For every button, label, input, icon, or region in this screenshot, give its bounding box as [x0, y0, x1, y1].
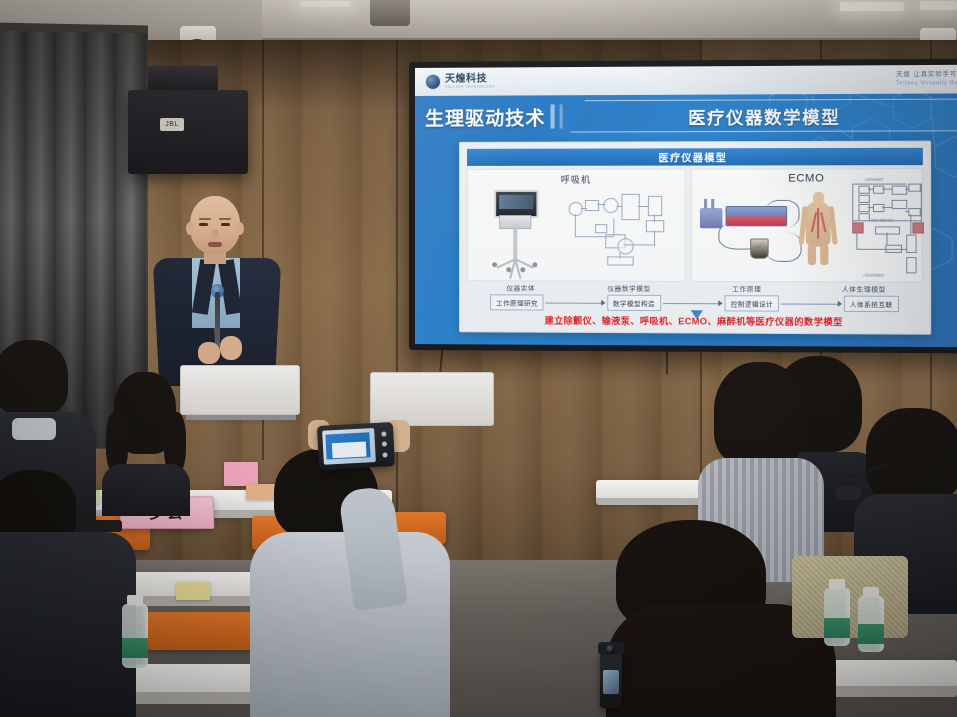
presenter-hand-left [198, 342, 220, 364]
desk-partition-2 [370, 372, 494, 426]
ecmo-tube-patient [766, 232, 802, 262]
brand-logo: 天煌科技 TELLYES TECHNOLOGY [425, 74, 495, 90]
slide-main-title-chip: 医疗仪器数学模型 [571, 99, 957, 133]
globe-icon [425, 74, 441, 90]
remote-control[interactable] [80, 520, 122, 532]
sticky-note-yellow [176, 582, 210, 600]
presenter-nose [212, 229, 218, 238]
phone-screen [322, 428, 376, 465]
tagline-cn: 天煌 让真实验手可及 [896, 72, 957, 80]
hair [714, 362, 806, 466]
bottle-cap [829, 579, 845, 589]
wall-speaker [128, 90, 248, 174]
hair [0, 340, 68, 416]
card-banner-label: 医疗仪器模型 [658, 149, 727, 164]
handheld-gimbal-camera[interactable] [600, 652, 622, 708]
flow-step-2: 数学模型构造 [607, 295, 661, 311]
phone-preview-card [332, 441, 367, 458]
patient-leg-right [820, 245, 828, 265]
sublabel-device-entity: 仪器实体 [467, 282, 575, 294]
ecmo-tube-right [766, 200, 800, 227]
camera-lens-icon [606, 645, 615, 654]
water-bottle-right-1 [824, 588, 850, 646]
display-screen[interactable]: 天煌科技 TELLYES TECHNOLOGY 天煌 让真实验手可及 Telly… [409, 59, 957, 354]
mouse-device[interactable] [836, 486, 862, 500]
flow-arrow-3 [781, 303, 841, 304]
bottle-cap [127, 595, 143, 605]
patient-figure [799, 192, 838, 265]
presenter-mouth [208, 242, 222, 247]
sublabel-working-principle: 工作原理 [689, 283, 806, 296]
desk-partition-1 [180, 365, 300, 415]
phone-camera-controls[interactable] [378, 428, 390, 460]
ventilator-base [490, 256, 540, 270]
ventilator-illustration [486, 188, 544, 272]
phone-shutter-icon[interactable] [382, 453, 387, 458]
physiology-circuit-schematic: 心血管系统模型 [844, 177, 925, 277]
ventilator-pole [513, 227, 517, 259]
process-flow: 工作原理研究 数学模型构造 控制逻辑设计 人体系统互联 [490, 295, 899, 311]
smartphone[interactable] [317, 422, 395, 470]
audience-member-left-foreground [0, 470, 130, 717]
slide-title-row: 生理驱动技术 医疗仪器数学模型 [415, 97, 957, 133]
tagline-en: Tellyes Virtually Real [896, 80, 957, 87]
panel-ventilator: 呼吸机 [467, 169, 686, 282]
ecmo-tube-lower [718, 222, 764, 249]
title-divider-1 [551, 104, 555, 128]
presenter-hand-right [220, 336, 242, 360]
flow-arrow-2 [663, 303, 722, 304]
collar [12, 418, 56, 440]
panel-row: 呼吸机 [467, 168, 923, 282]
ventilator-monitor [494, 190, 538, 218]
ceiling-light-1 [840, 2, 904, 11]
presentation-room-photo: JBL [0, 0, 957, 717]
flow-step-3: 控制逻辑设计 [725, 295, 780, 311]
bottle-label [858, 624, 884, 644]
title-divider-2 [560, 104, 563, 128]
ceiling-light-3 [300, 1, 350, 7]
slide-content-card: 医疗仪器模型 呼吸机 [459, 141, 931, 335]
ventilator-schematic [561, 186, 677, 275]
bottle-label [824, 618, 850, 638]
panel-ecmo: ECMO [691, 168, 923, 282]
projector-mount [370, 0, 410, 26]
slide-header: 天煌科技 TELLYES TECHNOLOGY 天煌 让真实验手可及 Telly… [415, 65, 957, 96]
panel-ventilator-title: 呼吸机 [468, 173, 685, 186]
brand-name-en: TELLYES TECHNOLOGY [445, 85, 495, 89]
slide-conclusion: 建立除颤仪、输液泵、呼吸机、ECMO、麻醉机等医疗仪器的数学模型 [474, 313, 916, 328]
phone-control-dot-1[interactable] [381, 431, 386, 436]
hair [866, 408, 957, 502]
brand-name-cn: 天煌科技 [445, 74, 495, 84]
torso [0, 532, 136, 717]
phone-preview-slide [325, 432, 370, 459]
presenter [152, 196, 282, 386]
tote-bag [792, 556, 908, 638]
bottle-label [122, 638, 148, 658]
gimbal-screen[interactable] [603, 670, 619, 694]
water-bottle-right-2 [858, 596, 884, 652]
audience-member-photographer [250, 448, 450, 717]
card-banner: 医疗仪器模型 [467, 148, 923, 166]
bottle-cap [863, 587, 879, 597]
slide-section-title: 生理驱动技术 [415, 103, 546, 131]
patient-leg-left [808, 245, 816, 265]
flow-step-4: 人体系统互联 [844, 296, 899, 313]
sublabel-device-math-model: 仪器数学模型 [575, 283, 684, 295]
sublabel-human-physio-model: 人体生理模型 [805, 283, 923, 296]
flow-step-1: 工作原理研究 [490, 294, 544, 310]
chair-mid-1 [146, 612, 254, 650]
speaker-brand-label: JBL [160, 118, 184, 131]
brand-tagline: 天煌 让真实验手可及 Tellyes Virtually Real [896, 72, 957, 86]
presentation-slide: 天煌科技 TELLYES TECHNOLOGY 天煌 让真实验手可及 Telly… [415, 65, 957, 348]
ceiling-light-2 [920, 1, 957, 10]
ecmo-pump [700, 208, 723, 228]
flow-arrow-1 [546, 302, 605, 303]
slide-main-title: 医疗仪器数学模型 [688, 103, 840, 129]
phone-control-dot-2[interactable] [381, 442, 386, 447]
water-bottle-left [122, 604, 148, 668]
